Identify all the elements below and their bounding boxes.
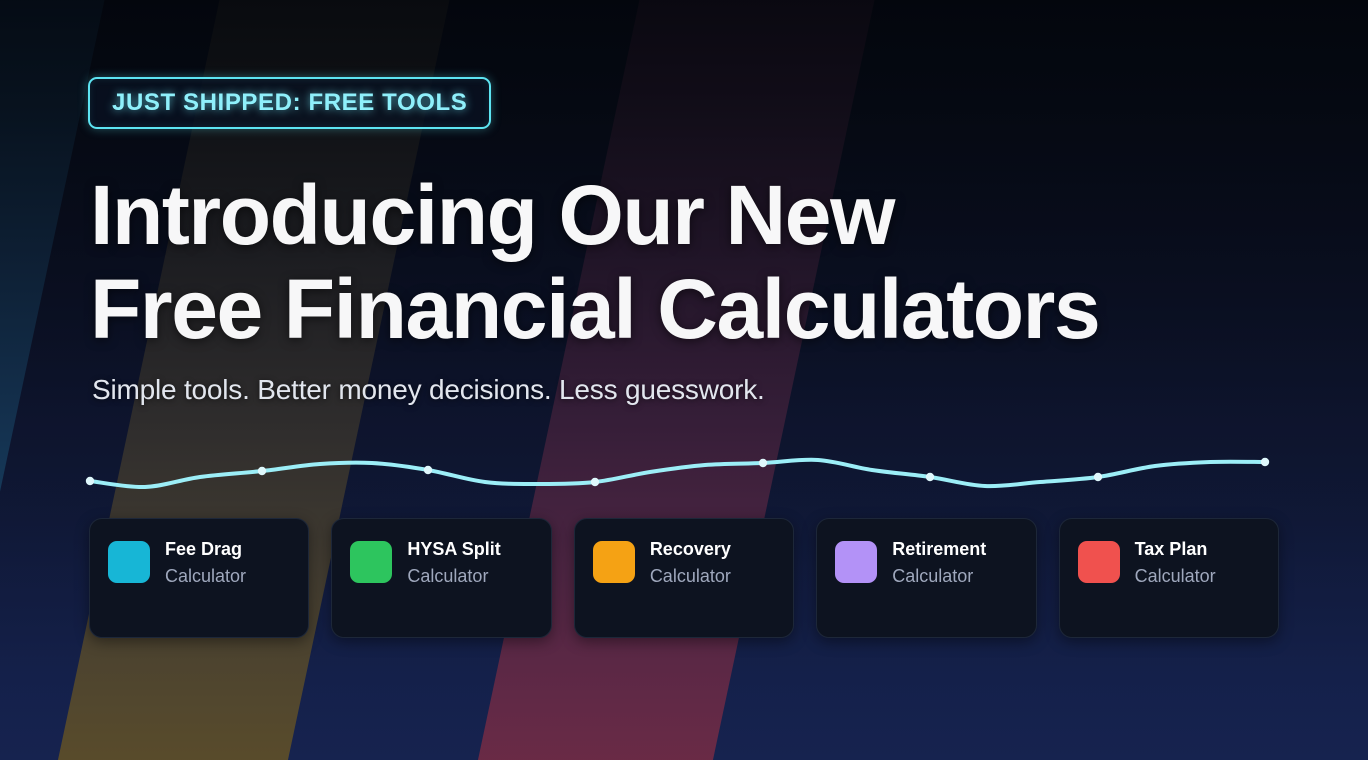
page-title-line-2: Free Financial Calculators <box>90 262 1270 356</box>
calculator-card-title: Tax Plan <box>1135 539 1216 560</box>
calculator-card[interactable]: RetirementCalculator <box>816 518 1036 638</box>
color-swatch-icon <box>1078 541 1120 583</box>
sparkline-path <box>90 460 1265 487</box>
sparkline-marker <box>1094 473 1102 481</box>
calculator-card[interactable]: Fee DragCalculator <box>89 518 309 638</box>
calculator-card-subtitle: Calculator <box>1135 565 1216 588</box>
status-badge: JUST SHIPPED: FREE TOOLS <box>88 77 491 129</box>
status-badge-label: JUST SHIPPED: FREE TOOLS <box>112 89 467 117</box>
calculator-card-subtitle: Calculator <box>892 565 986 588</box>
sparkline-markers <box>86 458 1269 486</box>
sparkline-marker <box>424 466 432 474</box>
calculator-card-text: RetirementCalculator <box>892 539 986 587</box>
calculator-card-title: Recovery <box>650 539 731 560</box>
sparkline-marker <box>86 477 94 485</box>
calculator-card[interactable]: RecoveryCalculator <box>574 518 794 638</box>
sparkline-marker <box>759 459 767 467</box>
calculator-card[interactable]: HYSA SplitCalculator <box>331 518 551 638</box>
color-swatch-icon <box>835 541 877 583</box>
calculator-card-subtitle: Calculator <box>407 565 500 588</box>
calculator-card-text: Fee DragCalculator <box>165 539 246 587</box>
calculator-card[interactable]: Tax PlanCalculator <box>1059 518 1279 638</box>
calculator-card-text: Tax PlanCalculator <box>1135 539 1216 587</box>
sparkline-svg <box>80 445 1280 505</box>
page-subtitle: Simple tools. Better money decisions. Le… <box>92 374 765 406</box>
calculator-card-list: Fee DragCalculatorHYSA SplitCalculatorRe… <box>89 518 1279 638</box>
calculator-card-subtitle: Calculator <box>165 565 246 588</box>
page-title-line-1: Introducing Our New <box>90 168 1270 262</box>
calculator-card-title: Fee Drag <box>165 539 246 560</box>
sparkline-marker <box>1261 458 1269 466</box>
calculator-card-text: HYSA SplitCalculator <box>407 539 500 587</box>
calculator-card-subtitle: Calculator <box>650 565 731 588</box>
color-swatch-icon <box>593 541 635 583</box>
calculator-card-text: RecoveryCalculator <box>650 539 731 587</box>
sparkline-marker <box>258 467 266 475</box>
color-swatch-icon <box>108 541 150 583</box>
calculator-card-title: HYSA Split <box>407 539 500 560</box>
hero-section: JUST SHIPPED: FREE TOOLS Introducing Our… <box>0 0 1368 760</box>
calculator-card-title: Retirement <box>892 539 986 560</box>
color-swatch-icon <box>350 541 392 583</box>
sparkline-marker <box>926 473 934 481</box>
page-title: Introducing Our New Free Financial Calcu… <box>90 168 1270 356</box>
sparkline-marker <box>591 478 599 486</box>
sparkline-chart <box>80 445 1280 505</box>
